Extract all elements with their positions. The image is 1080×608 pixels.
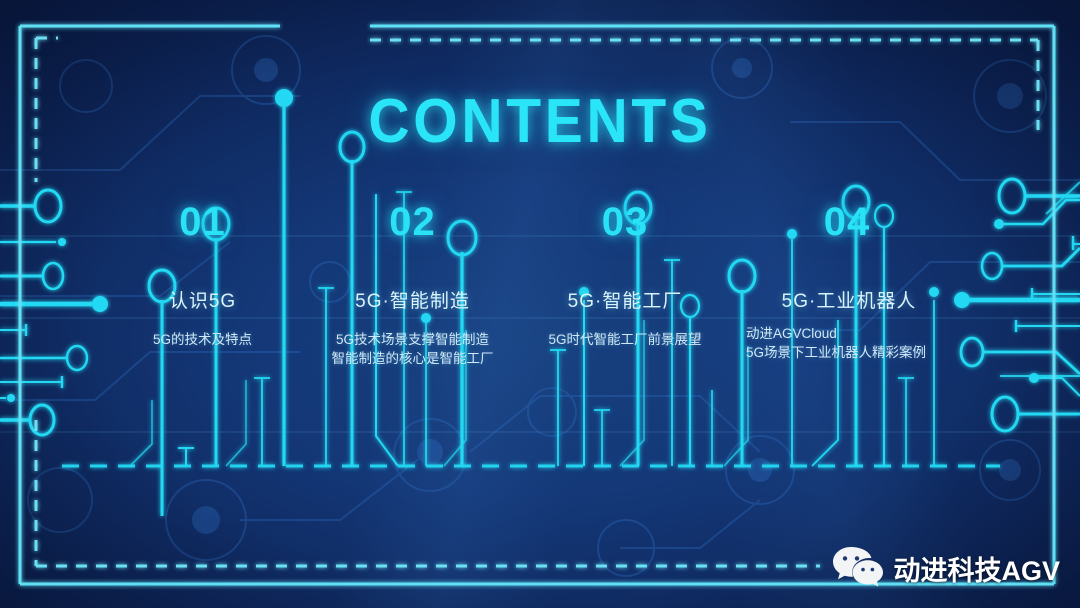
item-description-line-1: 5G时代智能工厂前景展望 <box>520 330 730 349</box>
contents-item-02[interactable]: 02 5G·智能制造 5G技术场景支撑智能制造 智能制造的核心是智能工厂 <box>305 200 520 390</box>
contents-item-03[interactable]: 03 5G·智能工厂 5G时代智能工厂前景展望 <box>520 200 730 390</box>
item-description: 5G时代智能工厂前景展望 <box>520 330 730 349</box>
contents-list: 01 认识5G 5G的技术及特点 02 5G·智能制造 5G技术场景支撑智能制造… <box>100 200 1000 390</box>
item-number: 03 <box>520 200 730 245</box>
slide-canvas: CONTENTS 01 认识5G 5G的技术及特点 02 5G·智能制造 5G技… <box>0 0 1080 608</box>
watermark-label: 动进科技AGV <box>893 549 1060 588</box>
watermark: 动进科技AGV <box>826 542 1066 594</box>
wechat-icon <box>832 545 884 591</box>
item-description: 动进AGVCloud 5G场景下工业机器人精彩案例 <box>746 324 926 362</box>
item-number: 02 <box>305 200 520 245</box>
item-number: 01 <box>100 200 305 245</box>
item-description-line-2: 5G场景下工业机器人精彩案例 <box>746 343 926 362</box>
item-number: 04 <box>722 200 972 245</box>
item-description-line-2: 智能制造的核心是智能工厂 <box>305 349 520 368</box>
item-description-line-1: 5G的技术及特点 <box>100 330 305 349</box>
item-heading: 5G·智能制造 <box>305 286 520 313</box>
item-heading: 5G·工业机器人 <box>724 286 974 313</box>
item-description-line-1: 5G技术场景支撑智能制造 <box>305 330 520 349</box>
item-description: 5G技术场景支撑智能制造 智能制造的核心是智能工厂 <box>305 330 520 368</box>
page-title: CONTENTS <box>43 86 1037 157</box>
item-description: 5G的技术及特点 <box>100 330 305 349</box>
item-heading: 5G·智能工厂 <box>520 286 730 313</box>
item-description-line-1: 动进AGVCloud <box>746 324 926 343</box>
contents-item-01[interactable]: 01 认识5G 5G的技术及特点 <box>100 200 305 390</box>
item-heading: 认识5G <box>100 286 305 313</box>
contents-item-04[interactable]: 04 5G·工业机器人 动进AGVCloud 5G场景下工业机器人精彩案例 <box>730 200 980 390</box>
